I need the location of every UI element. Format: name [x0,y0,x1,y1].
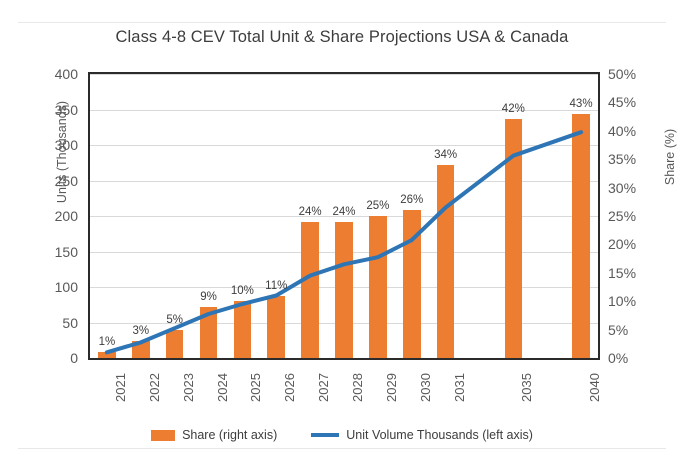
y-tick-right: 40% [608,124,664,138]
bar [200,307,218,358]
bar-label: 25% [361,200,395,212]
x-tick: 2029 [384,373,399,402]
y-tick-right: 20% [608,237,664,251]
y-tick-right: 30% [608,181,664,195]
bar-label: 3% [124,325,158,337]
y-tick-right: 10% [608,294,664,308]
bottom-divider [18,448,666,449]
chart-legend: Share (right axis)Unit Volume Thousands … [0,428,684,442]
bar [572,114,590,358]
y-tick-right: 50% [608,67,664,81]
bar-label: 24% [293,206,327,218]
y-tick-left: 200 [22,209,78,223]
legend-label: Share (right axis) [182,428,277,442]
legend-item[interactable]: Unit Volume Thousands (left axis) [311,428,533,442]
chart-title: Class 4-8 CEV Total Unit & Share Project… [0,28,684,47]
legend-bar-swatch-icon [151,430,175,441]
legend-line-swatch-icon [311,433,339,437]
bar [267,296,285,358]
y-tick-left: 50 [22,316,78,330]
x-tick: 2040 [587,373,602,402]
top-divider [18,22,666,23]
bar [132,341,150,358]
x-tick: 2031 [452,373,467,402]
x-tick: 2035 [519,373,534,402]
y-axis-right-title: Share (%) [663,77,677,237]
x-tick: 2026 [282,373,297,402]
y-tick-right: 25% [608,209,664,223]
gridline [90,74,598,75]
x-tick: 2025 [248,373,263,402]
bar [98,352,116,358]
x-tick: 2028 [350,373,365,402]
bar [166,330,184,358]
y-tick-right: 5% [608,323,664,337]
bar-label: 34% [429,149,463,161]
legend-label: Unit Volume Thousands (left axis) [346,428,533,442]
y-tick-left: 0 [22,351,78,365]
bar-label: 43% [564,98,598,110]
bar [403,210,421,358]
bar-label: 5% [158,314,192,326]
y-tick-left: 350 [22,103,78,117]
x-tick: 2024 [215,373,230,402]
x-tick: 2030 [418,373,433,402]
bar-label: 1% [90,336,124,348]
bar [437,165,455,358]
y-tick-left: 250 [22,174,78,188]
bar-label: 10% [225,285,259,297]
bar [505,119,523,358]
bar-label: 24% [327,206,361,218]
bar [335,222,353,358]
y-tick-left: 400 [22,67,78,81]
y-tick-left: 150 [22,245,78,259]
bar [301,222,319,358]
y-tick-right: 45% [608,95,664,109]
y-tick-right: 15% [608,266,664,280]
bar [234,301,252,358]
legend-item[interactable]: Share (right axis) [151,428,277,442]
bar [369,216,387,358]
y-tick-right: 35% [608,152,664,166]
y-tick-left: 300 [22,138,78,152]
x-tick: 2022 [147,373,162,402]
y-tick-right: 0% [608,351,664,365]
chart-card: Class 4-8 CEV Total Unit & Share Project… [0,0,684,470]
bar-label: 42% [496,103,530,115]
x-tick: 2023 [181,373,196,402]
bar-label: 26% [395,194,429,206]
bar-label: 9% [192,291,226,303]
bar-label: 11% [259,280,293,292]
x-tick: 2021 [113,373,128,402]
y-tick-left: 100 [22,280,78,294]
x-tick: 2027 [316,373,331,402]
